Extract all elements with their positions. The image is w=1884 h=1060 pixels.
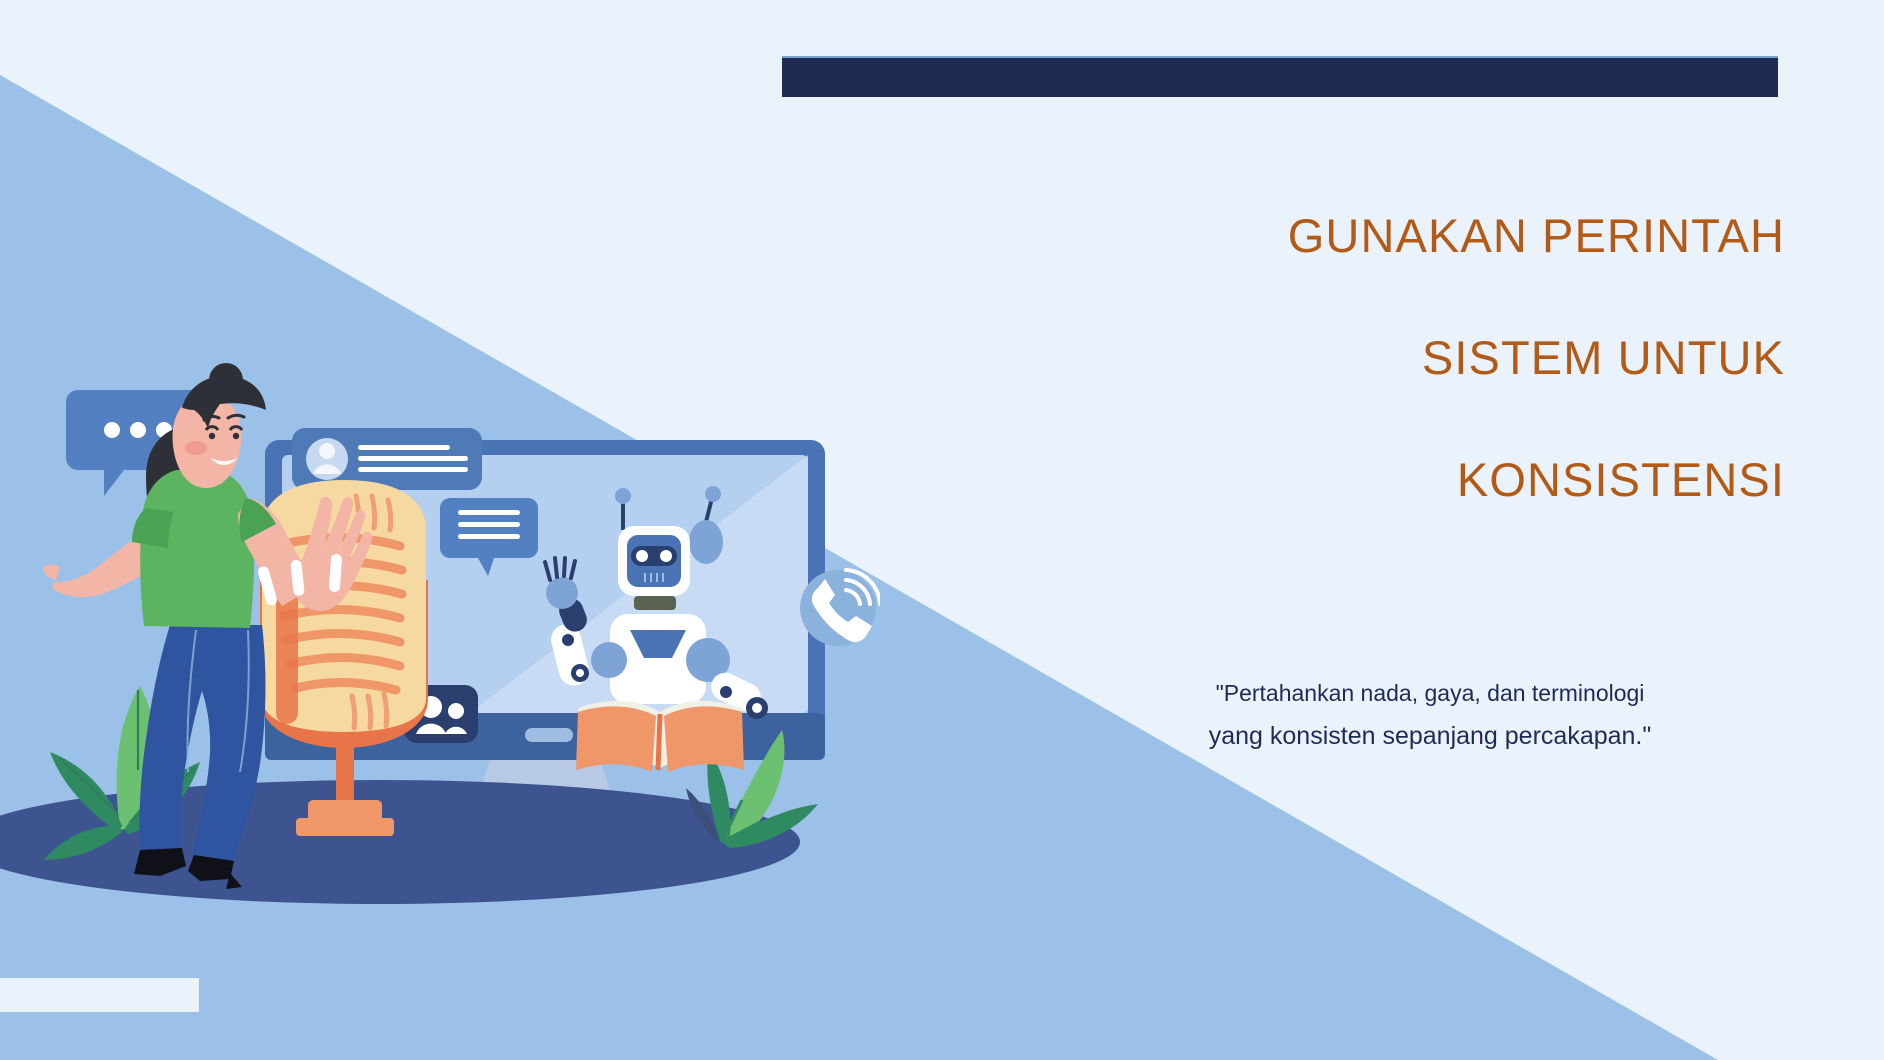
bottom-left-accent-strip [0,978,199,1012]
page-title: GUNAKAN PERINTAH SISTEM UNTUK KONSISTENS… [1000,175,1785,541]
user-card [292,428,482,490]
top-accent-bar [782,56,1778,97]
title-line-2: SISTEM UNTUK [1000,297,1785,419]
title-line-3: KONSISTENSI [1000,419,1785,541]
title-line-1: GUNAKAN PERINTAH [1000,175,1785,297]
slide-canvas: GUNAKAN PERINTAH SISTEM UNTUK KONSISTENS… [0,0,1884,1060]
quote-text: "Pertahankan nada, gaya, dan terminologi… [1060,672,1800,758]
phone-call-icon [800,570,880,646]
quote-line-2: yang konsisten sepanjang percakapan." [1060,715,1800,758]
hero-illustration [0,330,880,910]
quote-line-1: "Pertahankan nada, gaya, dan terminologi [1060,672,1800,715]
